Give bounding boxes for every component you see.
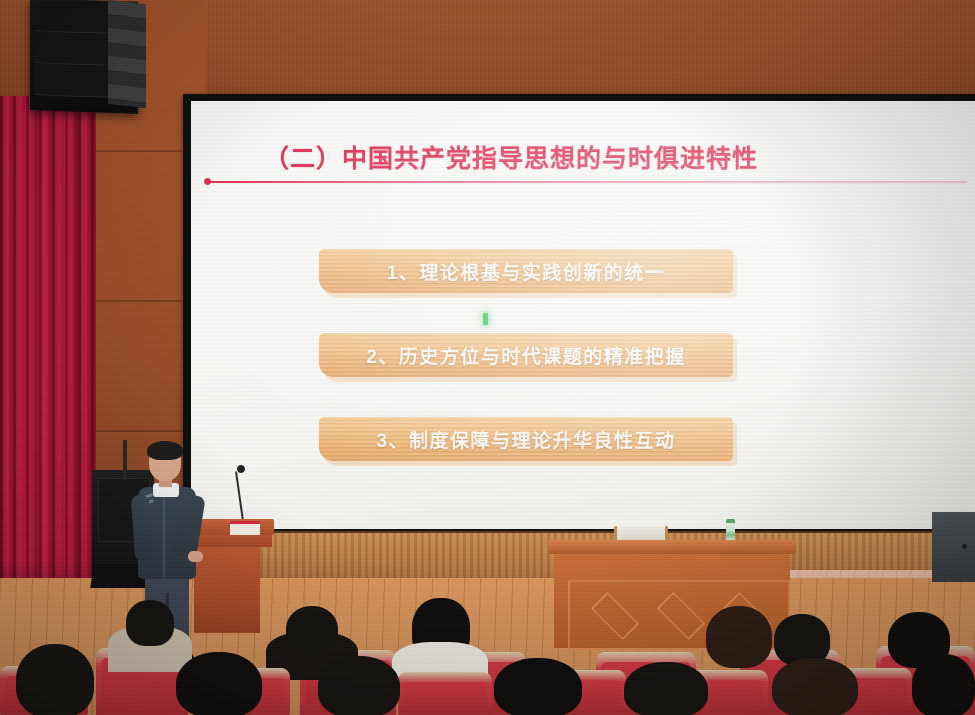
audience [0,596,975,715]
attendee-head [706,606,772,668]
auditorium-scene: （二）中国共产党指导思想的与时俱进特性 1、理论根基与实践创新的统一 2、历史方… [0,0,975,715]
attendee-head [16,644,94,715]
slide-bullet-label-2: 2、历史方位与时代课题的精准把握 [366,342,686,369]
seat [398,672,492,715]
microphone-head-icon [237,465,245,473]
floor-monitor-right-icon [932,512,975,582]
presenter-hand [188,551,203,562]
attendee-head [126,600,174,646]
attendee-head [772,658,858,715]
slide-bullet-label-3: 3、制度保障与理论升华良性互动 [376,426,675,453]
slide-bullet-bar-2: 2、历史方位与时代课题的精准把握 [319,333,733,377]
attendee-head [624,662,708,715]
mic-stand-pole [123,440,127,480]
presenter-hair [147,441,183,460]
conference-table-top [548,540,796,554]
attendee-head [912,654,975,715]
attendee-head [286,606,338,654]
slide-bullet-bar-3: 3、制度保障与理论升华良性互动 [319,417,733,461]
slide-bullet-bar-1: 1、理论根基与实践创新的统一 [319,249,733,293]
podium-name-card [230,521,260,535]
slide-heading: （二）中国共产党指导思想的与时俱进特性 [191,139,831,175]
slide-bullet-label-1: 1、理论根基与实践创新的统一 [387,258,666,285]
slide-heading-rule-dot [204,178,211,185]
speaker-rigging-bracket [108,0,146,108]
attendee-head [494,658,582,715]
stage-curtain [0,96,96,616]
laser-pointer-dot [483,313,488,325]
attendee-head [176,652,262,715]
projection-screen: （二）中国共产党指导思想的与时俱进特性 1、理论根基与实践创新的统一 2、历史方… [191,101,975,529]
presenter-jacket-zipper [163,495,165,577]
slide-heading-rule [207,181,967,183]
attendee-head [318,656,400,715]
